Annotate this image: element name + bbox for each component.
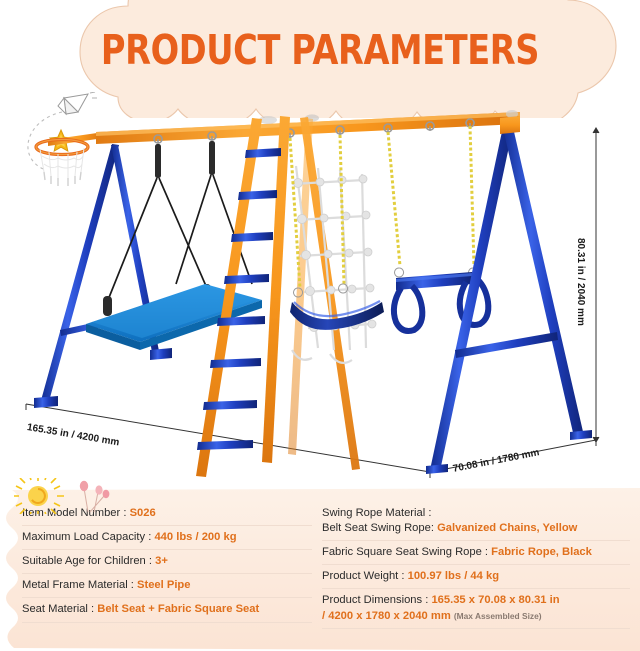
spec-label: Product Dimensions : — [322, 594, 431, 606]
spec-label: Suitable Age for Children : — [22, 555, 155, 567]
right-frame-blue — [426, 116, 592, 474]
spec-row: Metal Frame Material : Steel Pipe — [22, 574, 312, 598]
spec-value: 165.35 x 70.08 x 80.31 in — [431, 594, 559, 606]
dimension-label-height: 80.31 in / 2040 mm — [575, 238, 586, 326]
spec-label: Metal Frame Material : — [22, 579, 137, 591]
sun-icon — [14, 478, 64, 514]
spec-row: Maximum Load Capacity : 440 lbs / 200 kg — [22, 526, 312, 550]
spec-column-left: Item Model Number : S026 Maximum Load Ca… — [22, 502, 312, 623]
spec-value: 100.97 lbs / 44 kg — [408, 570, 499, 582]
spec-label: Seat Material : — [22, 603, 97, 615]
basketball-hoop — [36, 132, 104, 186]
flowers-icon — [80, 481, 110, 512]
spec-label: Product Weight : — [322, 570, 408, 582]
spec-row: Fabric Square Seat Swing Rope : Fabric R… — [322, 541, 630, 565]
swing-set-illustration — [0, 88, 640, 488]
spec-value: 3+ — [155, 555, 168, 567]
page-title: PRODUCT PARAMETERS — [58, 26, 583, 74]
spec-row: Suitable Age for Children : 3+ — [22, 550, 312, 574]
spec-value: S026 — [130, 507, 156, 519]
spec-label: Fabric Square Seat Swing Rope : — [322, 546, 491, 558]
spec-value-line2: / 4200 x 1780 x 2040 mm — [322, 610, 451, 622]
spec-label: Maximum Load Capacity : — [22, 531, 154, 543]
swing-rope-header: Swing Rope Material : — [322, 507, 431, 519]
spec-column-right: Swing Rope Material : Belt Seat Swing Ro… — [322, 502, 630, 629]
product-image: 80.31 in / 2040 mm 165.35 in / 4200 mm 7… — [0, 88, 640, 488]
spec-value: Galvanized Chains, Yellow — [437, 522, 577, 534]
spec-value: Fabric Rope, Black — [491, 546, 592, 558]
spec-row-dimensions: Product Dimensions : 165.35 x 70.08 x 80… — [322, 589, 630, 628]
spec-row-swing-rope: Swing Rope Material : Belt Seat Swing Ro… — [322, 502, 630, 541]
decoration-sun-flowers — [14, 478, 130, 514]
spec-note: (Max Assembled Size) — [454, 611, 542, 621]
spec-value: Belt Seat + Fabric Square Seat — [97, 603, 259, 615]
spec-row: Seat Material : Belt Seat + Fabric Squar… — [22, 598, 312, 622]
spec-value: Steel Pipe — [137, 579, 190, 591]
spec-label: Belt Seat Swing Rope: — [322, 522, 437, 534]
spec-value: 440 lbs / 200 kg — [154, 531, 236, 543]
spec-row: Product Weight : 100.97 lbs / 44 kg — [322, 565, 630, 589]
